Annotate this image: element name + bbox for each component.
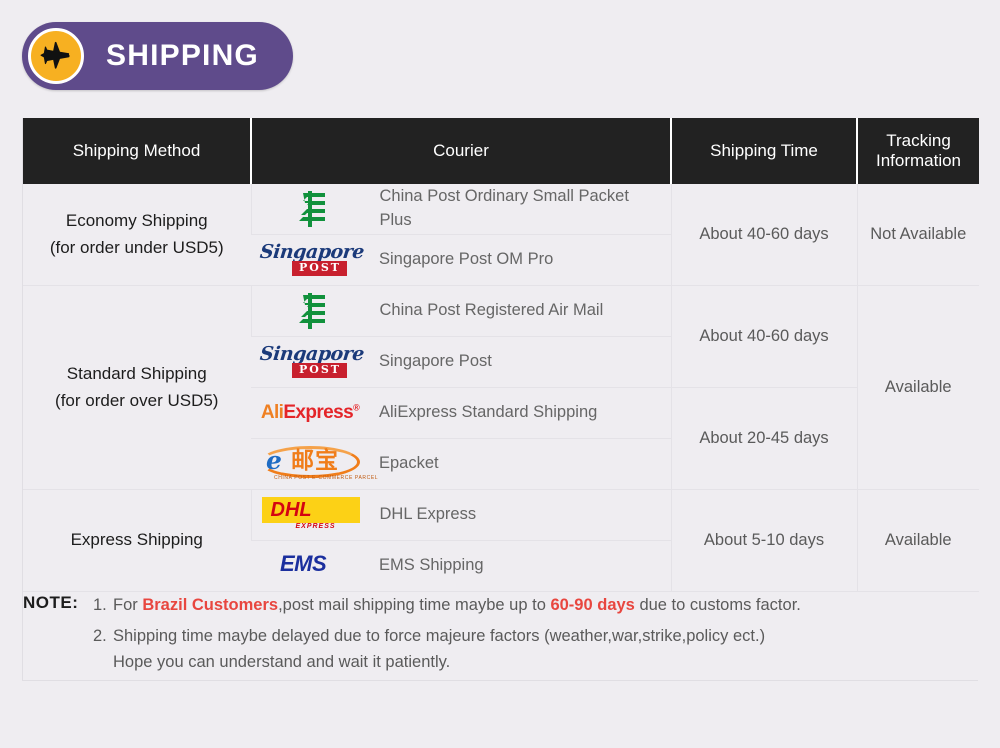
note-part3: due to customs factor. (635, 596, 801, 614)
epacket-e-text: e (266, 448, 282, 473)
ems-logo: EMS (251, 546, 369, 586)
shipping-time-cell: About 20-45 days (671, 388, 857, 490)
note-number: 2. (93, 623, 113, 676)
note-part2: ,post mail shipping time maybe up to (278, 596, 550, 614)
table-row: Standard Shipping (for order over USD5) (23, 286, 979, 337)
shipping-info-page: SHIPPING Shipping Method Courier Shippin… (0, 0, 1000, 748)
courier-cell: EMS EMS Shipping (251, 541, 671, 592)
courier-name: AliExpress Standard Shipping (369, 401, 605, 425)
aliexpress-ali-text: Ali (261, 402, 283, 423)
epacket-logo: e 邮宝 CHINA POST E-COMMERCE PARCEL (251, 441, 369, 487)
aliexpress-tm-icon: ® (353, 403, 359, 413)
airplane-icon (28, 28, 84, 84)
note-text: For Brazil Customers,post mail shipping … (113, 592, 979, 619)
shipping-table-wrapper: Shipping Method Courier Shipping Time Tr… (22, 118, 978, 681)
column-header-shipping-time: Shipping Time (671, 118, 857, 184)
column-header-courier: Courier (251, 118, 671, 184)
method-label-line1: Standard Shipping (23, 361, 251, 387)
singapore-post-box: POST (292, 261, 347, 276)
courier-name: DHL Express (370, 503, 485, 527)
shipping-time-cell: About 40-60 days (671, 286, 857, 388)
list-item: 2. Shipping time maybe delayed due to fo… (93, 623, 979, 676)
shipping-time-cell: About 5-10 days (671, 490, 857, 592)
courier-cell: e 邮宝 CHINA POST E-COMMERCE PARCEL Epacke… (251, 439, 671, 490)
method-label-line2: (for order over USD5) (23, 388, 251, 414)
courier-name: EMS Shipping (369, 554, 492, 578)
note-text: Shipping time maybe delayed due to force… (113, 623, 979, 676)
china-post-logo (252, 186, 370, 232)
table-header-row: Shipping Method Courier Shipping Time Tr… (23, 118, 979, 184)
courier-cell: AliExpress® AliExpress Standard Shipping (251, 388, 671, 439)
courier-cell: China Post Ordinary Small Packet Plus (251, 184, 671, 235)
note-highlight-brazil: Brazil Customers (142, 596, 278, 614)
courier-name: Singapore Post OM Pro (369, 248, 561, 272)
singapore-post-logo: Singapore POST (251, 340, 369, 384)
aliexpress-express-text: Express (283, 402, 353, 423)
method-cell-standard: Standard Shipping (for order over USD5) (23, 286, 251, 490)
column-header-tracking-information: Tracking Information (857, 118, 979, 184)
method-cell-express: Express Shipping (23, 490, 251, 592)
courier-name: Singapore Post (369, 350, 500, 374)
epacket-chinese-text: 邮宝 (291, 449, 339, 472)
singapore-post-script: Singapore (259, 343, 365, 365)
tracking-cell: Available (857, 286, 979, 490)
note-number: 1. (93, 592, 113, 619)
column-header-shipping-method: Shipping Method (23, 118, 251, 184)
dhl-logo: DHL EXPRESS (252, 492, 370, 538)
ems-speedlines-right-icon (336, 556, 362, 574)
table-row: Express Shipping DHL EXPRESS DHL (23, 490, 979, 541)
china-post-logo (252, 288, 370, 334)
courier-name: Epacket (369, 452, 447, 476)
notes-row: NOTE: 1. For Brazil Customers,post mail … (23, 592, 979, 681)
note-label: NOTE: (23, 592, 93, 613)
dhl-subtitle: EXPRESS (296, 523, 336, 530)
epacket-subtitle: CHINA POST E-COMMERCE PARCEL (274, 475, 378, 481)
tracking-cell: Available (857, 490, 979, 592)
table-row: Economy Shipping (for order under USD5) (23, 184, 979, 235)
courier-cell: DHL EXPRESS DHL Express (251, 490, 671, 541)
courier-cell: Singapore POST Singapore Post (251, 337, 671, 388)
method-label-line1: Economy Shipping (23, 208, 251, 234)
aliexpress-logo: AliExpress® (251, 399, 369, 427)
shipping-header-title: SHIPPING (106, 39, 259, 73)
singapore-post-script: Singapore (259, 241, 365, 263)
singapore-post-logo: Singapore POST (251, 238, 369, 282)
notes-cell: NOTE: 1. For Brazil Customers,post mail … (23, 592, 979, 681)
note-highlight-days: 60-90 days (550, 596, 634, 614)
ems-text: EMS (280, 552, 326, 576)
method-label-line2: (for order under USD5) (23, 235, 251, 261)
shipping-table: Shipping Method Courier Shipping Time Tr… (23, 118, 979, 680)
courier-cell: China Post Registered Air Mail (251, 286, 671, 337)
note-list: 1. For Brazil Customers,post mail shippi… (93, 592, 979, 680)
method-label-line1: Express Shipping (23, 527, 251, 553)
courier-cell: Singapore POST Singapore Post OM Pro (251, 235, 671, 286)
note-part1: For (113, 596, 142, 614)
shipping-header-badge: SHIPPING (22, 22, 293, 90)
courier-name: China Post Ordinary Small Packet Plus (370, 185, 671, 233)
note-continuation: Hope you can understand and wait it pati… (113, 649, 979, 676)
note-part1: Shipping time maybe delayed due to force… (113, 627, 765, 645)
method-cell-economy: Economy Shipping (for order under USD5) (23, 184, 251, 286)
list-item: 1. For Brazil Customers,post mail shippi… (93, 592, 979, 619)
singapore-post-box: POST (292, 363, 347, 378)
tracking-cell: Not Available (857, 184, 979, 286)
shipping-time-cell: About 40-60 days (671, 184, 857, 286)
courier-name: China Post Registered Air Mail (370, 299, 612, 323)
dhl-text: DHL (271, 499, 312, 521)
